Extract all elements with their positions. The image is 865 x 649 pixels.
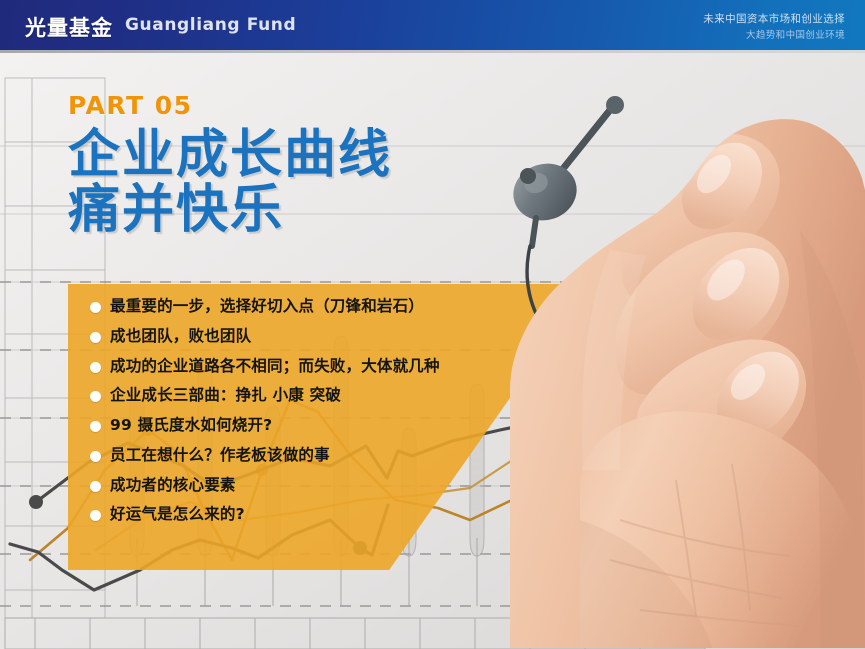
bullet-dot-icon [90, 451, 101, 462]
list-item: 最重要的一步，选择好切入点（刀锋和岩石） [90, 297, 570, 315]
logo-chinese: 光量基金 [25, 12, 113, 42]
bullet-list: 最重要的一步，选择好切入点（刀锋和岩石） 成也团队，败也团队 成功的企业道路各不… [90, 297, 570, 535]
list-item-label: 99 摄氏度水如何烧开? [110, 416, 272, 434]
list-item: 成功的企业道路各不相同；而失败，大体就几种 [90, 357, 570, 375]
bullet-dot-icon [90, 362, 101, 373]
title-block: PART 05 企业成长曲线 痛并快乐 [68, 93, 392, 237]
list-item: 成也团队，败也团队 [90, 327, 570, 345]
list-item-label: 好运气是怎么来的? [110, 505, 245, 523]
bullet-dot-icon [90, 302, 101, 313]
list-item: 99 摄氏度水如何烧开? [90, 416, 570, 434]
list-item: 成功者的核心要素 [90, 476, 570, 494]
presentation-slide: 光量基金 Guangliang Fund 未来中国资本市场和创业选择 大趋势和中… [0, 0, 865, 649]
list-item-label: 最重要的一步，选择好切入点（刀锋和岩石） [110, 297, 424, 315]
list-item-label: 成也团队，败也团队 [110, 327, 251, 345]
part-label: PART 05 [68, 93, 392, 118]
header-subtitle-line1: 未来中国资本市场和创业选择 [703, 11, 845, 26]
bullet-dot-icon [90, 510, 101, 521]
list-item: 企业成长三部曲：挣扎 小康 突破 [90, 386, 570, 404]
bullet-dot-icon [90, 391, 101, 402]
page-title-line2: 痛并快乐 [68, 184, 392, 237]
bullet-dot-icon [90, 421, 101, 432]
bullet-dot-icon [90, 481, 101, 492]
header-subtitle-line2: 大趋势和中国创业环境 [746, 27, 845, 41]
page-title-line1: 企业成长曲线 [68, 129, 392, 182]
list-item: 员工在想什么？作老板该做的事 [90, 446, 570, 464]
logo-english: Guangliang Fund [125, 15, 296, 35]
list-item-label: 成功的企业道路各不相同；而失败，大体就几种 [110, 357, 440, 375]
list-item: 好运气是怎么来的? [90, 505, 570, 523]
list-item-label: 企业成长三部曲：挣扎 小康 突破 [110, 386, 341, 404]
slide-header: 光量基金 Guangliang Fund 未来中国资本市场和创业选择 大趋势和中… [0, 0, 865, 50]
list-item-label: 员工在想什么？作老板该做的事 [110, 446, 330, 464]
bullet-dot-icon [90, 332, 101, 343]
list-item-label: 成功者的核心要素 [110, 476, 236, 494]
